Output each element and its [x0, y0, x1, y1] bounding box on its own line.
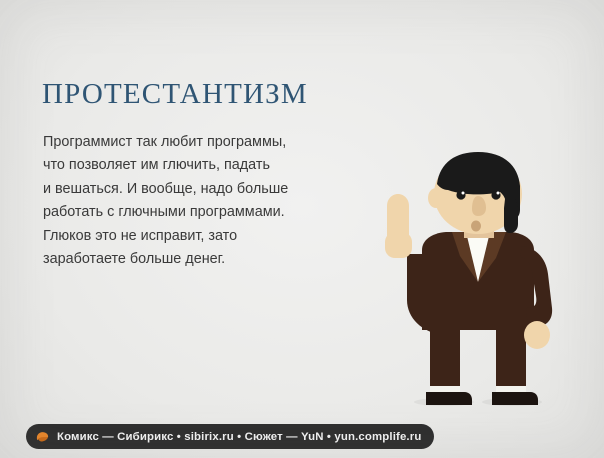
body-line: и вешаться. И вообще, надо больше	[43, 178, 343, 201]
body-line: что позволяет им глючить, падать	[43, 154, 343, 177]
body-line: заработаете больше денег.	[43, 248, 343, 271]
pointing-businessman-illustration	[360, 150, 604, 420]
credit-bar[interactable]: Комикс — Сибирикс • sibirix.ru • Сюжет —…	[26, 424, 434, 449]
body-line: Программист так любит программы,	[43, 131, 343, 154]
body-text-block: Программист так любит программы, что поз…	[43, 131, 343, 271]
comic-poster: ПРОТЕСТАНТИЗМ Программист так любит прог…	[0, 0, 604, 458]
credit-text: Комикс — Сибирикс • sibirix.ru • Сюжет —…	[57, 431, 421, 443]
body-line: Глюков это не исправит, зато	[43, 225, 343, 248]
page-title: ПРОТЕСТАНТИЗМ	[42, 78, 308, 111]
sibirix-logo-icon	[35, 429, 50, 444]
body-line: работать с глючными программами.	[43, 201, 343, 224]
